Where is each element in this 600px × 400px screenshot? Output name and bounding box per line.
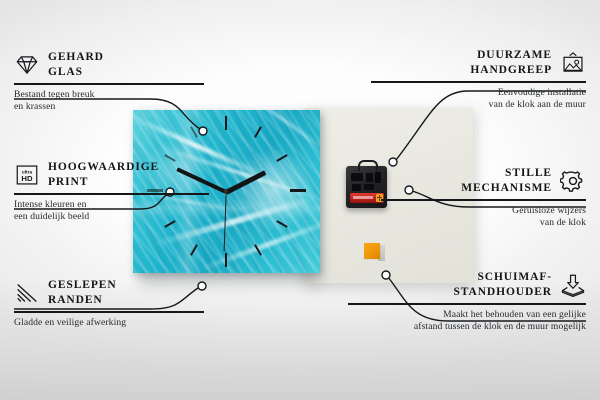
feature-title: GEHARD GLAS	[48, 50, 104, 79]
mechanism-slot	[351, 173, 363, 181]
feature-divider	[14, 311, 204, 312]
battery-label	[353, 196, 373, 199]
feature-title-line1: GEHARD	[48, 50, 104, 65]
gear-icon	[560, 169, 586, 193]
feature-title: GESLEPEN RANDEN	[48, 278, 117, 307]
hanging-hook	[358, 160, 378, 171]
feature-subtitle: Gladde en veilige afwerking	[14, 317, 204, 330]
feature-duurzame-handgreep[interactable]: DUURZAME HANDGREEP Eenvoudige installati…	[371, 48, 586, 112]
feature-schuimaf-standhouder[interactable]: SCHUIMAF- STANDHOUDER Maakt het behouden…	[348, 270, 586, 334]
feature-sub-line2: een duidelijk beeld	[14, 211, 209, 224]
clock-hub	[224, 189, 228, 193]
feature-stille-mechanisme[interactable]: STILLE MECHANISME Geruisloze wijzers van…	[381, 166, 586, 230]
feature-title-line2: GLAS	[48, 65, 104, 80]
feature-subtitle: Bestand tegen breuk en krassen	[14, 89, 204, 114]
feature-title-line1: HOOGWAARDIGE	[48, 160, 159, 175]
feature-subtitle: Eenvoudige installatie van de klok aan d…	[371, 87, 586, 112]
feature-sub-line1: Eenvoudige installatie	[371, 87, 586, 100]
feature-header: GESLEPEN RANDEN	[14, 278, 204, 307]
diamond-icon	[14, 53, 40, 77]
foam-spacer-icon	[560, 273, 586, 297]
feature-sub-line1: Intense kleuren en	[14, 199, 209, 212]
feature-subtitle: Geruisloze wijzers van de klok	[381, 205, 586, 230]
feature-divider	[371, 81, 586, 82]
foam-spacer	[364, 243, 380, 259]
battery	[350, 193, 384, 203]
feature-sub-line2: en krassen	[14, 101, 204, 114]
feature-title-line1: SCHUIMAF-	[348, 270, 552, 285]
feature-sub-line2: van de klok aan de muur	[371, 99, 586, 112]
feature-title-line1: DUURZAME	[371, 48, 552, 63]
feature-sub-line2: van de klok	[381, 217, 586, 230]
ultra-hd-icon: ultra HD	[14, 163, 40, 187]
svg-text:HD: HD	[21, 174, 33, 183]
feature-title: SCHUIMAF- STANDHOUDER	[348, 270, 552, 299]
feature-divider	[14, 83, 204, 84]
feature-title-line2: MECHANISME	[381, 181, 552, 196]
feature-header: GEHARD GLAS	[14, 50, 204, 79]
mechanism-slot	[366, 173, 373, 182]
feature-divider	[348, 303, 586, 304]
feature-sub-line1: Maakt het behouden van een gelijke	[348, 309, 586, 322]
mechanism-slot	[364, 184, 374, 190]
feature-gehard-glas[interactable]: GEHARD GLAS Bestand tegen breuk en krass…	[14, 50, 204, 114]
feature-title-line1: STILLE	[381, 166, 552, 181]
picture-frame-icon	[560, 51, 586, 75]
feature-title: STILLE MECHANISME	[381, 166, 552, 195]
feature-sub-line1: Gladde en veilige afwerking	[14, 317, 204, 330]
feature-subtitle: Maakt het behouden van een gelijke afsta…	[348, 309, 586, 334]
hour-tick-6	[225, 253, 227, 267]
feature-divider	[381, 199, 586, 200]
hour-tick-3	[290, 189, 306, 192]
feature-geslepen-randen[interactable]: GESLEPEN RANDEN Gladde en veilige afwerk…	[14, 278, 204, 329]
feature-sub-line1: Geruisloze wijzers	[381, 205, 586, 218]
bevelled-edge-icon	[14, 281, 40, 305]
feature-title-line1: GESLEPEN	[48, 278, 117, 293]
feature-title-line2: PRINT	[48, 175, 159, 190]
hour-tick-12	[225, 116, 227, 130]
feature-header: ultra HD HOOGWAARDIGE PRINT	[14, 160, 209, 189]
feature-sub-line2: afstand tussen de klok en de muur mogeli…	[348, 321, 586, 334]
feature-sub-line1: Bestand tegen breuk	[14, 89, 204, 102]
feature-header: SCHUIMAF- STANDHOUDER	[348, 270, 586, 299]
feature-title: HOOGWAARDIGE PRINT	[48, 160, 159, 189]
feature-title: DUURZAME HANDGREEP	[371, 48, 552, 77]
feature-header: STILLE MECHANISME	[381, 166, 586, 195]
feature-title-line2: RANDEN	[48, 293, 117, 308]
feature-subtitle: Intense kleuren en een duidelijk beeld	[14, 199, 209, 224]
mechanism-slot	[352, 184, 361, 191]
feature-divider	[14, 193, 209, 194]
feature-title-line2: HANDGREEP	[371, 63, 552, 78]
feature-hoogwaardige-print[interactable]: ultra HD HOOGWAARDIGE PRINT Intense kleu…	[14, 160, 209, 224]
feature-header: DUURZAME HANDGREEP	[371, 48, 586, 77]
infographic-canvas: GEHARD GLAS Bestand tegen breuk en krass…	[0, 0, 600, 400]
feature-title-line2: STANDHOUDER	[348, 285, 552, 300]
